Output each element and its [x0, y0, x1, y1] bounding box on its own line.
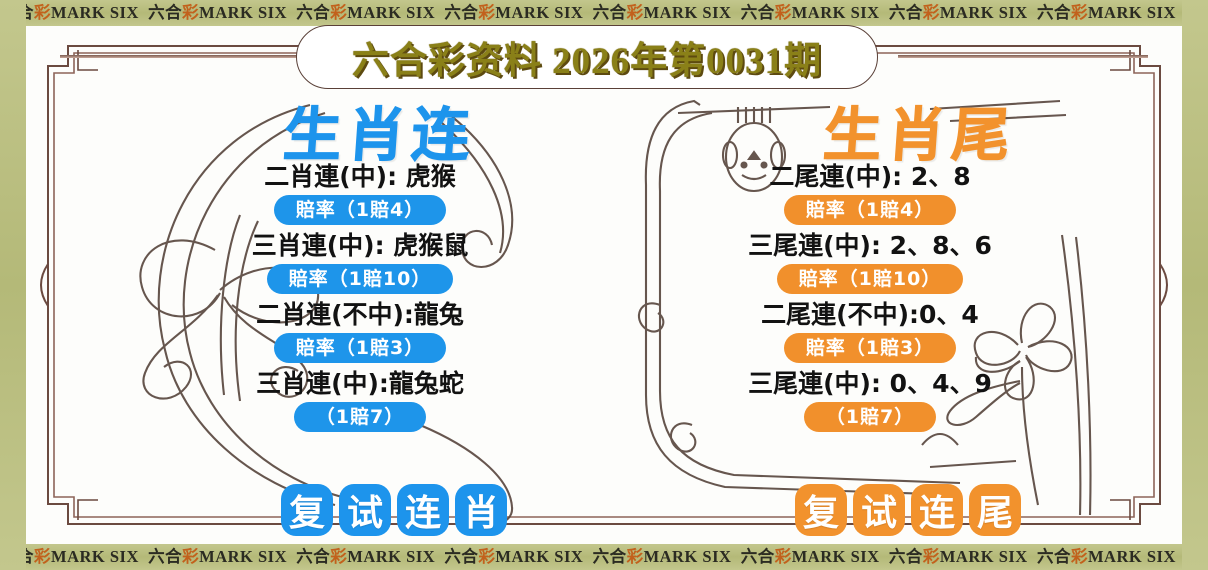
- footer-badges-left: 复 试 连 肖: [134, 484, 654, 536]
- footer-badge[interactable]: 肖: [455, 484, 507, 536]
- footer-badge[interactable]: 复: [795, 484, 847, 536]
- row-pill-wrap: 賠率（1賠4）: [100, 195, 620, 225]
- rows-right: 二尾連(中): 2、8 賠率（1賠4） 三尾連(中): 2、8、6 賠率（1賠1…: [610, 160, 1130, 438]
- row-pill-wrap: 賠率（1賠3）: [100, 333, 620, 363]
- odds-pill[interactable]: 賠率（1賠10）: [777, 264, 964, 294]
- footer-badge[interactable]: 尾: [969, 484, 1021, 536]
- title-rule-left: [60, 55, 310, 58]
- border-strip-left: 六合彩MARK SIX 六合彩MARK SIX 六合彩MARK SIX 六合彩M…: [0, 0, 26, 570]
- title-rule-right: [898, 55, 1148, 58]
- border-strip-bottom: 六合彩MARK SIX 六合彩MARK SIX 六合彩MARK SIX 六合彩M…: [0, 544, 1208, 570]
- page-title: 六合彩资料 2026年第0031期: [352, 30, 822, 84]
- row-pill-wrap: 賠率（1賠3）: [610, 333, 1130, 363]
- footer-badges-right: 复 试 连 尾: [648, 484, 1168, 536]
- rows-left: 二肖連(中): 虎猴 賠率（1賠4） 三肖連(中): 虎猴鼠 賠率（1賠10） …: [100, 160, 620, 438]
- title-banner: 六合彩资料 2026年第0031期: [296, 25, 878, 89]
- row-label: 三尾連(中): 0、4、9: [610, 369, 1130, 399]
- odds-pill[interactable]: 賠率（1賠3）: [274, 333, 446, 363]
- footer-badge[interactable]: 连: [911, 484, 963, 536]
- border-strip-right: 六合彩MARK SIX 六合彩MARK SIX 六合彩MARK SIX 六合彩M…: [1182, 0, 1208, 570]
- odds-pill[interactable]: 賠率（1賠3）: [784, 333, 956, 363]
- row-label: 二尾連(不中):0、4: [610, 300, 1130, 330]
- footer-badge[interactable]: 试: [853, 484, 905, 536]
- footer-badge[interactable]: 连: [397, 484, 449, 536]
- row-pill-wrap: （1賠7）: [610, 402, 1130, 432]
- row-pill-wrap: 賠率（1賠4）: [610, 195, 1130, 225]
- odds-pill[interactable]: 賠率（1賠10）: [267, 264, 454, 294]
- row-pill-wrap: 賠率（1賠10）: [100, 264, 620, 294]
- row-label: 三肖連(中): 虎猴鼠: [100, 231, 620, 261]
- poster-canvas: 六合彩MARK SIX 六合彩MARK SIX 六合彩MARK SIX 六合彩M…: [0, 0, 1208, 570]
- border-text-top: 六合彩MARK SIX 六合彩MARK SIX 六合彩MARK SIX 六合彩M…: [0, 0, 1208, 26]
- row-pill-wrap: 賠率（1賠10）: [610, 264, 1130, 294]
- footer-badge[interactable]: 复: [281, 484, 333, 536]
- row-label: 三肖連(中):龍兔蛇: [100, 369, 620, 399]
- row-label: 二尾連(中): 2、8: [610, 162, 1130, 192]
- odds-pill[interactable]: （1賠7）: [804, 402, 936, 432]
- odds-pill[interactable]: 賠率（1賠4）: [274, 195, 446, 225]
- odds-pill[interactable]: 賠率（1賠4）: [784, 195, 956, 225]
- row-label: 三尾連(中): 2、8、6: [610, 231, 1130, 261]
- row-label: 二肖連(中): 虎猴: [100, 162, 620, 192]
- row-label: 二肖連(不中):龍兔: [100, 300, 620, 330]
- border-text-bottom: 六合彩MARK SIX 六合彩MARK SIX 六合彩MARK SIX 六合彩M…: [0, 544, 1208, 570]
- footer-badge[interactable]: 试: [339, 484, 391, 536]
- odds-pill[interactable]: （1賠7）: [294, 402, 426, 432]
- row-pill-wrap: （1賠7）: [100, 402, 620, 432]
- panel-zodiac-lian: 生肖连 二肖連(中): 虎猴 賠率（1賠4） 三肖連(中): 虎猴鼠 賠率（1賠…: [100, 88, 620, 528]
- border-strip-top: 六合彩MARK SIX 六合彩MARK SIX 六合彩MARK SIX 六合彩M…: [0, 0, 1208, 26]
- panel-zodiac-wei: 生肖尾 二尾連(中): 2、8 賠率（1賠4） 三尾連(中): 2、8、6 賠率…: [610, 88, 1130, 528]
